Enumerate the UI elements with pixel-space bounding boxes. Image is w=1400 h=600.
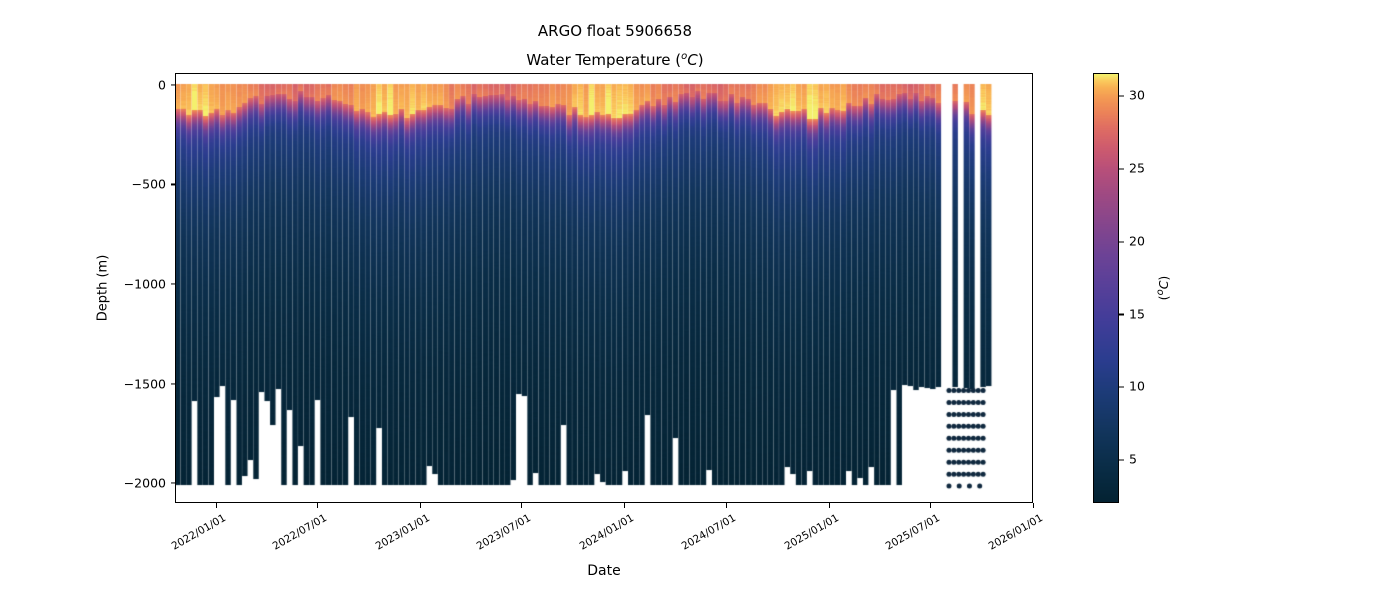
colorbar-tick-label: 20 [1119, 233, 1145, 248]
x-tick-label: 2024/01/01 [578, 512, 636, 553]
x-tick-mark [521, 503, 522, 508]
plot-area[interactable] [175, 73, 1033, 503]
title-unit-suffix: ) [698, 51, 704, 69]
title-line-2: Water Temperature (oC) [0, 44, 1230, 73]
colorbar-tick-label: 25 [1119, 160, 1145, 175]
y-tick-label: −500 [0, 177, 175, 192]
y-tick-mark [171, 283, 176, 284]
title-unit-c: C [687, 51, 697, 69]
temperature-section-heatmap [176, 74, 1032, 502]
colorbar-unit-suffix: ) [1156, 276, 1171, 281]
x-tick-label: 2025/01/01 [782, 512, 840, 553]
x-tick-label: 2025/07/01 [884, 512, 942, 553]
title-line-1: ARGO float 5906658 [0, 18, 1230, 44]
y-tick-mark [171, 184, 176, 185]
colorbar-label: (oC) [1155, 276, 1171, 301]
figure-title: ARGO float 5906658 Water Temperature (oC… [0, 18, 1230, 73]
colorbar-degree-superscript-icon: o [1155, 289, 1166, 295]
x-tick-mark [420, 503, 421, 508]
x-tick-mark [829, 503, 830, 508]
y-tick-mark [171, 483, 176, 484]
x-tick-mark [930, 503, 931, 508]
x-tick-mark [216, 503, 217, 508]
colorbar-unit-prefix: ( [1156, 295, 1171, 300]
x-tick-mark [726, 503, 727, 508]
colorbar[interactable] [1093, 73, 1119, 503]
y-tick-label: −2000 [0, 476, 175, 491]
x-tick-label: 2022/01/01 [169, 512, 227, 553]
y-tick-mark [171, 383, 176, 384]
x-tick-mark [317, 503, 318, 508]
colorbar-tick-label: 30 [1119, 87, 1145, 102]
x-tick-label: 2023/01/01 [374, 512, 432, 553]
colorbar-tick-label: 10 [1119, 379, 1145, 394]
x-tick-label: 2023/07/01 [475, 512, 533, 553]
y-tick-mark [171, 84, 176, 85]
y-tick-label: −1500 [0, 376, 175, 391]
figure-root: ARGO float 5906658 Water Temperature (oC… [0, 0, 1400, 600]
title-unit-prefix: Water Temperature ( [526, 51, 681, 69]
x-tick-label: 2024/07/01 [680, 512, 738, 553]
x-tick-label: 2022/07/01 [271, 512, 329, 553]
colorbar-tick-label: 5 [1119, 452, 1137, 467]
y-tick-label: 0 [0, 77, 175, 92]
x-axis-label: Date [175, 563, 1033, 579]
x-tick-label: 2026/01/01 [987, 512, 1045, 553]
colorbar-unit-c: C [1156, 281, 1171, 290]
y-tick-label: −1000 [0, 277, 175, 292]
colorbar-tick-label: 15 [1119, 306, 1145, 321]
x-tick-mark [1033, 503, 1034, 508]
x-tick-mark [624, 503, 625, 508]
colorbar-gradient [1094, 74, 1118, 502]
